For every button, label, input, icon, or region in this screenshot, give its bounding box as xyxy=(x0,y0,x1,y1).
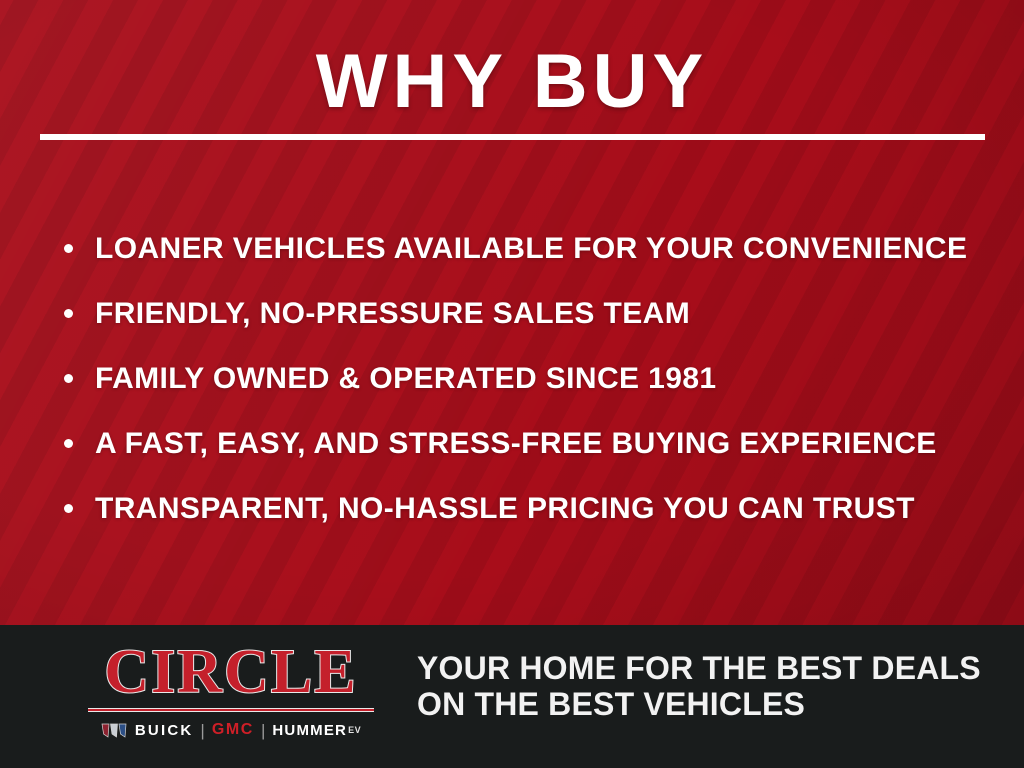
bullet-dot-icon xyxy=(64,244,73,253)
list-item-label: FAMILY OWNED & OPERATED SINCE 1981 xyxy=(95,363,717,395)
list-item: A FAST, EASY, AND STRESS-FREE BUYING EXP… xyxy=(62,411,1002,476)
list-item: LOANER VEHICLES AVAILABLE FOR YOUR CONVE… xyxy=(62,216,1002,281)
benefits-list: LOANER VEHICLES AVAILABLE FOR YOUR CONVE… xyxy=(62,216,1002,541)
brand-separator: | xyxy=(261,722,265,739)
list-item-label: TRANSPARENT, NO-HASSLE PRICING YOU CAN T… xyxy=(95,493,915,525)
footer-tagline: YOUR HOME FOR THE BEST DEALS ON THE BEST… xyxy=(417,650,981,722)
brand-strip: BUICK | GMC | HUMMER EV xyxy=(88,720,374,740)
bullet-dot-icon xyxy=(64,439,73,448)
brand-separator: | xyxy=(200,722,204,739)
title-divider-rule xyxy=(40,134,985,140)
page-title: WHY BUY xyxy=(0,44,1024,120)
bullet-dot-icon xyxy=(64,504,73,513)
bullet-dot-icon xyxy=(64,374,73,383)
dealer-logo: CIRCLE BUICK | GMC | HUMMER xyxy=(88,641,374,740)
why-buy-slide: WHY BUY LOANER VEHICLES AVAILABLE FOR YO… xyxy=(0,0,1024,768)
buick-tri-shield-icon xyxy=(101,723,135,738)
list-item: TRANSPARENT, NO-HASSLE PRICING YOU CAN T… xyxy=(62,476,1002,541)
list-item: FRIENDLY, NO-PRESSURE SALES TEAM xyxy=(62,281,1002,346)
list-item-label: A FAST, EASY, AND STRESS-FREE BUYING EXP… xyxy=(95,428,937,460)
footer-tagline-line1: YOUR HOME FOR THE BEST DEALS xyxy=(417,650,981,686)
brand-label-hummer: HUMMER xyxy=(272,722,347,739)
footer-tagline-line2: ON THE BEST VEHICLES xyxy=(417,686,981,722)
brand-label-gmc: GMC xyxy=(212,721,254,739)
brand-label-buick: BUICK xyxy=(135,722,194,739)
brand-label-hummer-ev-suffix: EV xyxy=(348,725,361,735)
list-item-label: FRIENDLY, NO-PRESSURE SALES TEAM xyxy=(95,298,690,330)
dealer-logo-divider xyxy=(88,708,374,712)
list-item: FAMILY OWNED & OPERATED SINCE 1981 xyxy=(62,346,1002,411)
list-item-label: LOANER VEHICLES AVAILABLE FOR YOUR CONVE… xyxy=(95,233,967,265)
dealer-logo-wordmark: CIRCLE xyxy=(88,641,374,703)
bullet-dot-icon xyxy=(64,309,73,318)
